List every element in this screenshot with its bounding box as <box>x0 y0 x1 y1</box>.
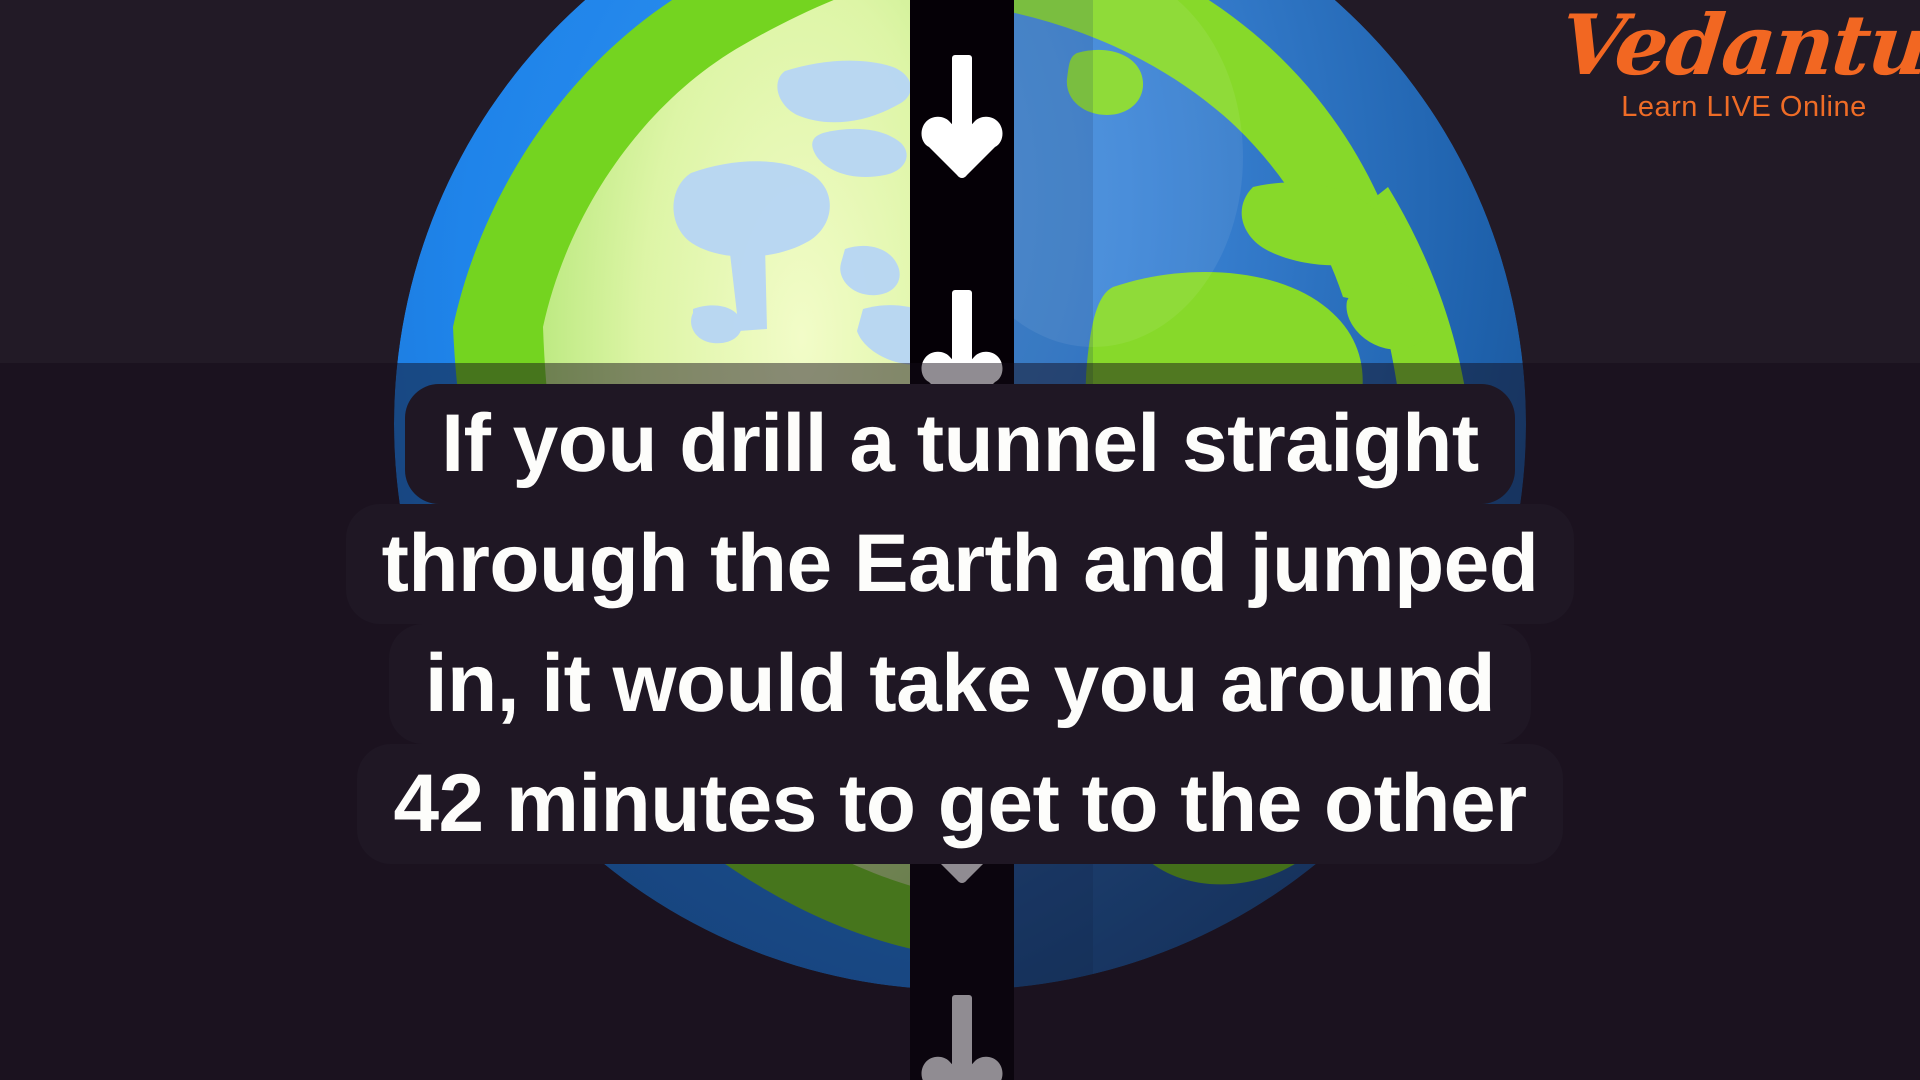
caption-block: If you drill a tunnel straight through t… <box>0 384 1920 864</box>
caption-line: in, it would take you around <box>389 624 1531 744</box>
fact-card: Vedantu Learn LIVE Online If you drill a… <box>0 0 1920 1080</box>
vedantu-wordmark: Vedantu <box>1550 4 1920 87</box>
caption-line: If you drill a tunnel straight <box>405 384 1514 504</box>
down-arrow-icon <box>917 995 1007 1080</box>
vedantu-logo[interactable]: Vedantu Learn LIVE Online <box>1554 4 1920 122</box>
caption-line: through the Earth and jumped <box>346 504 1575 624</box>
vedantu-tagline: Learn LIVE Online <box>1554 93 1920 122</box>
caption-line: 42 minutes to get to the other <box>357 744 1562 864</box>
down-arrow-icon <box>917 55 1007 185</box>
